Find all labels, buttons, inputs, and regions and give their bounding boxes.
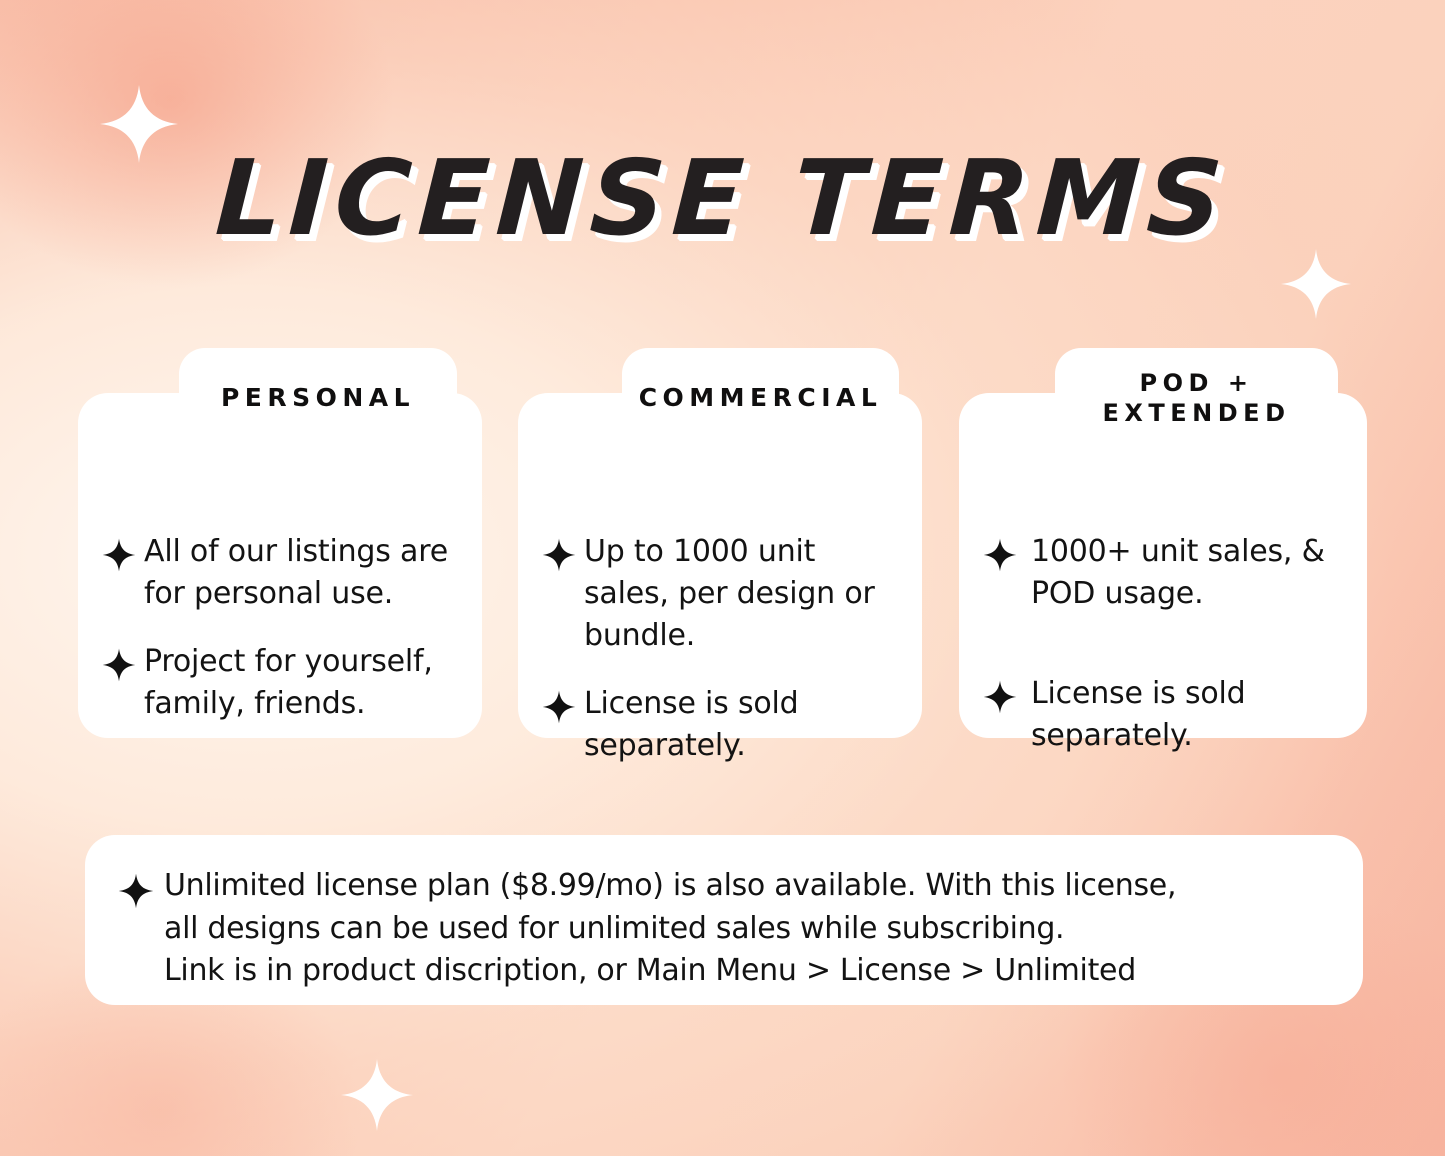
card-tab-pod-extended: POD + EXTENDED [1055, 348, 1338, 448]
unlimited-plan-banner: Unlimited license plan ($8.99/mo) is als… [85, 835, 1363, 1005]
four-point-star-icon [983, 537, 1017, 573]
card-tab-label: COMMERCIAL [639, 382, 883, 414]
list-item-text: All of our listings are for personal use… [144, 531, 456, 615]
unlimited-plan-banner-inner: Unlimited license plan ($8.99/mo) is als… [85, 835, 1363, 993]
list-item: 1000+ unit sales, & POD usage. [983, 531, 1341, 615]
list-item: Project for yourself, family, friends. [102, 641, 456, 725]
sparkle-bottom-left [341, 1059, 413, 1131]
card-body-personal: All of our listings are for personal use… [78, 493, 482, 725]
list-item-text: 1000+ unit sales, & POD usage. [1031, 531, 1341, 615]
card-tab-commercial: COMMERCIAL [622, 348, 899, 448]
unlimited-plan-text: Unlimited license plan ($8.99/mo) is als… [164, 865, 1176, 993]
four-point-star-icon [118, 872, 154, 910]
list-item: License is sold separately. [983, 673, 1341, 757]
unlimited-plan-line-3: Link is in product discription, or Main … [164, 950, 1176, 993]
list-item: License is sold separately. [542, 683, 896, 767]
list-item: Up to 1000 unit sales, per design or bun… [542, 531, 896, 657]
four-point-star-icon [983, 679, 1017, 715]
card-tab-personal: PERSONAL [179, 348, 457, 448]
four-point-star-icon [102, 537, 136, 573]
unlimited-plan-line-1: Unlimited license plan ($8.99/mo) is als… [164, 865, 1176, 908]
list-item-text: Project for yourself, family, friends. [144, 641, 456, 725]
card-tab-label-line1: POD + [1140, 369, 1254, 397]
card-body-commercial: Up to 1000 unit sales, per design or bun… [518, 493, 922, 767]
list-item-text: License is sold separately. [584, 683, 896, 767]
list-item-text: License is sold separately. [1031, 673, 1341, 757]
license-terms-graphic: LICENSE TERMS All of our listings are fo… [0, 0, 1445, 1156]
list-item-text: Up to 1000 unit sales, per design or bun… [584, 531, 896, 657]
page-title-wrapper: LICENSE TERMS [0, 146, 1445, 250]
four-point-star-icon [102, 647, 136, 683]
card-tab-label: PERSONAL [221, 382, 415, 414]
four-point-star-icon [542, 537, 576, 573]
list-item: All of our listings are for personal use… [102, 531, 456, 615]
card-tab-label: POD + EXTENDED [1103, 368, 1291, 428]
page-title: LICENSE TERMS [213, 146, 1231, 250]
four-point-star-icon [542, 689, 576, 725]
license-cards: All of our listings are for personal use… [78, 348, 1367, 798]
card-body-pod-extended: 1000+ unit sales, & POD usage. License i… [959, 493, 1367, 757]
unlimited-plan-line-2: all designs can be used for unlimited sa… [164, 908, 1176, 951]
sparkle-right [1281, 249, 1351, 319]
card-tab-label-line2: EXTENDED [1103, 399, 1291, 427]
